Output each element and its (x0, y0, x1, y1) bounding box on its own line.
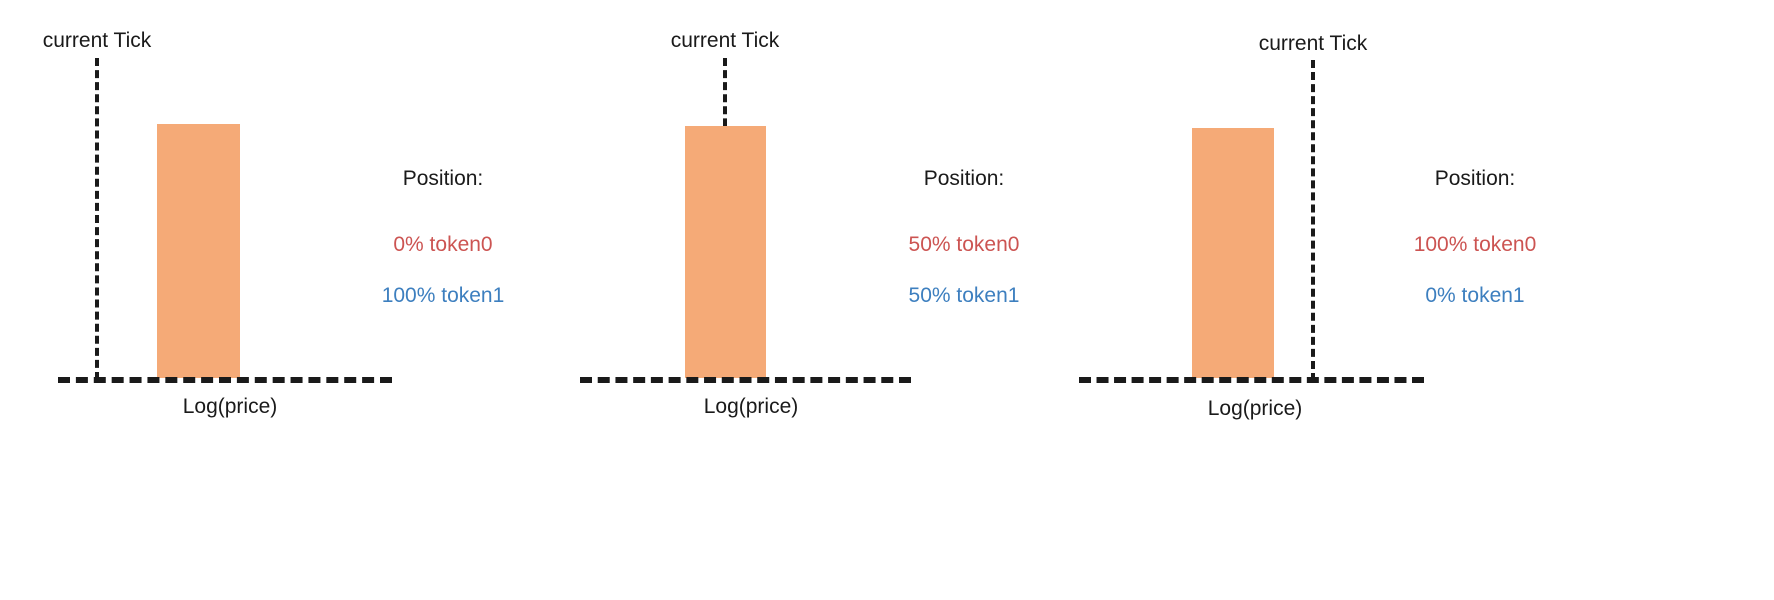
liquidity-bar (685, 126, 766, 378)
legend-token0-value: 0% token0 (382, 189, 505, 255)
current-tick-label: current Tick (671, 30, 780, 51)
position-legend: Position: 100% token0 0% token1 (1414, 168, 1537, 306)
legend-title: Position: (909, 168, 1020, 189)
legend-token0-value: 100% token0 (1414, 189, 1537, 255)
log-price-axis (1079, 377, 1424, 383)
legend-token0-value: 50% token0 (909, 189, 1020, 255)
current-tick-line (1311, 60, 1315, 381)
panel-3: current Tick Log(price) Position: 100% t… (1075, 0, 1774, 600)
legend-token1-value: 0% token1 (1414, 255, 1537, 306)
legend-title: Position: (382, 168, 505, 189)
panel-2: current Tick Log(price) Position: 50% to… (580, 0, 1075, 600)
liquidity-bar (1192, 128, 1274, 378)
legend-title: Position: (1414, 168, 1537, 189)
position-legend: Position: 50% token0 50% token1 (909, 168, 1020, 306)
current-tick-label: current Tick (1259, 33, 1368, 54)
log-price-axis (58, 377, 392, 383)
liquidity-bar (157, 124, 240, 378)
axis-label-log-price: Log(price) (1208, 398, 1303, 419)
legend-token1-value: 100% token1 (382, 255, 505, 306)
current-tick-line (95, 58, 99, 380)
legend-token1-value: 50% token1 (909, 255, 1020, 306)
log-price-axis (580, 377, 911, 383)
axis-label-log-price: Log(price) (704, 396, 799, 417)
position-legend: Position: 0% token0 100% token1 (382, 168, 505, 306)
current-tick-label: current Tick (43, 30, 152, 51)
axis-label-log-price: Log(price) (183, 396, 278, 417)
panel-1: current Tick Log(price) Position: 0% tok… (0, 0, 580, 600)
